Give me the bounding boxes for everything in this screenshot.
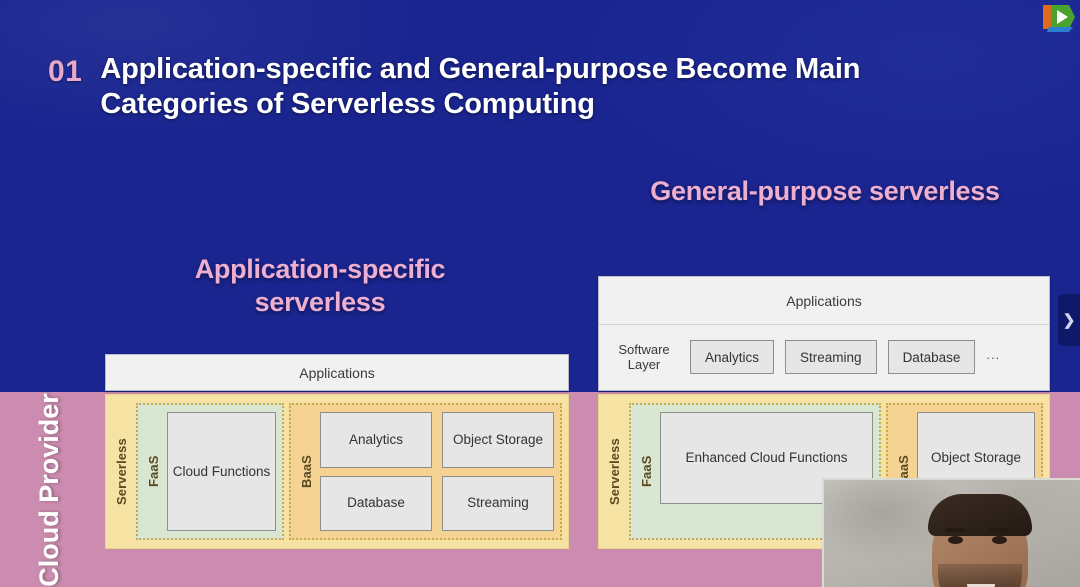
- left-baas-tiles: Analytics Object Storage Database Stream…: [320, 412, 554, 531]
- headline-number: 01: [48, 52, 82, 90]
- tile-cloud-functions[interactable]: Cloud Functions: [167, 412, 276, 531]
- left-serverless-label: Serverless: [112, 403, 131, 540]
- right-faas-label: FaaS: [637, 412, 656, 531]
- tile-database[interactable]: Database: [320, 476, 432, 532]
- webcam-eye-left: [948, 536, 963, 544]
- right-software-panel: Applications Software Layer Analytics St…: [598, 276, 1050, 391]
- left-applications-label: Applications: [299, 365, 375, 381]
- cloud-provider-label: Cloud Provider: [34, 393, 64, 587]
- right-applications-bar: Applications: [599, 277, 1049, 325]
- software-layer-label: Software Layer: [609, 342, 679, 372]
- webcam-brow-right: [989, 528, 1009, 532]
- software-layer-more: ...: [986, 347, 1000, 368]
- slide-canvas: 01 Application-specific and General-purp…: [0, 0, 1080, 587]
- sw-tile-database[interactable]: Database: [888, 340, 976, 374]
- right-applications-label: Applications: [786, 293, 862, 309]
- cloud-provider-region: Cloud Provider: [0, 392, 98, 587]
- left-stack-title: Application-specific serverless: [140, 253, 500, 319]
- webcam-hair: [928, 494, 1032, 536]
- play-logo-icon[interactable]: [1037, 1, 1077, 33]
- webcam-brow-left: [945, 528, 965, 532]
- tile-object-storage[interactable]: Object Storage: [442, 412, 554, 468]
- sw-tile-streaming[interactable]: Streaming: [785, 340, 877, 374]
- sw-tile-analytics[interactable]: Analytics: [690, 340, 774, 374]
- slide-headline: 01 Application-specific and General-purp…: [48, 52, 978, 122]
- right-stack-title: General-purpose serverless: [640, 175, 1010, 208]
- webcam-eye-right: [992, 536, 1007, 544]
- left-faas-zone: FaaS Cloud Functions: [136, 403, 284, 540]
- tile-analytics[interactable]: Analytics: [320, 412, 432, 468]
- next-slide-arrow[interactable]: ❯: [1058, 294, 1080, 346]
- left-serverless-region: Serverless FaaS Cloud Functions BaaS Ana…: [105, 394, 569, 549]
- left-applications-bar: Applications: [105, 354, 569, 391]
- tile-streaming[interactable]: Streaming: [442, 476, 554, 532]
- left-baas-label: BaaS: [297, 412, 316, 531]
- right-serverless-label: Serverless: [605, 403, 624, 540]
- software-layer-row: Software Layer Analytics Streaming Datab…: [599, 325, 1049, 390]
- presenter-webcam[interactable]: [822, 478, 1080, 587]
- headline-text: Application-specific and General-purpose…: [100, 52, 978, 122]
- left-faas-label: FaaS: [144, 412, 163, 531]
- left-baas-zone: BaaS Analytics Object Storage Database S…: [289, 403, 562, 540]
